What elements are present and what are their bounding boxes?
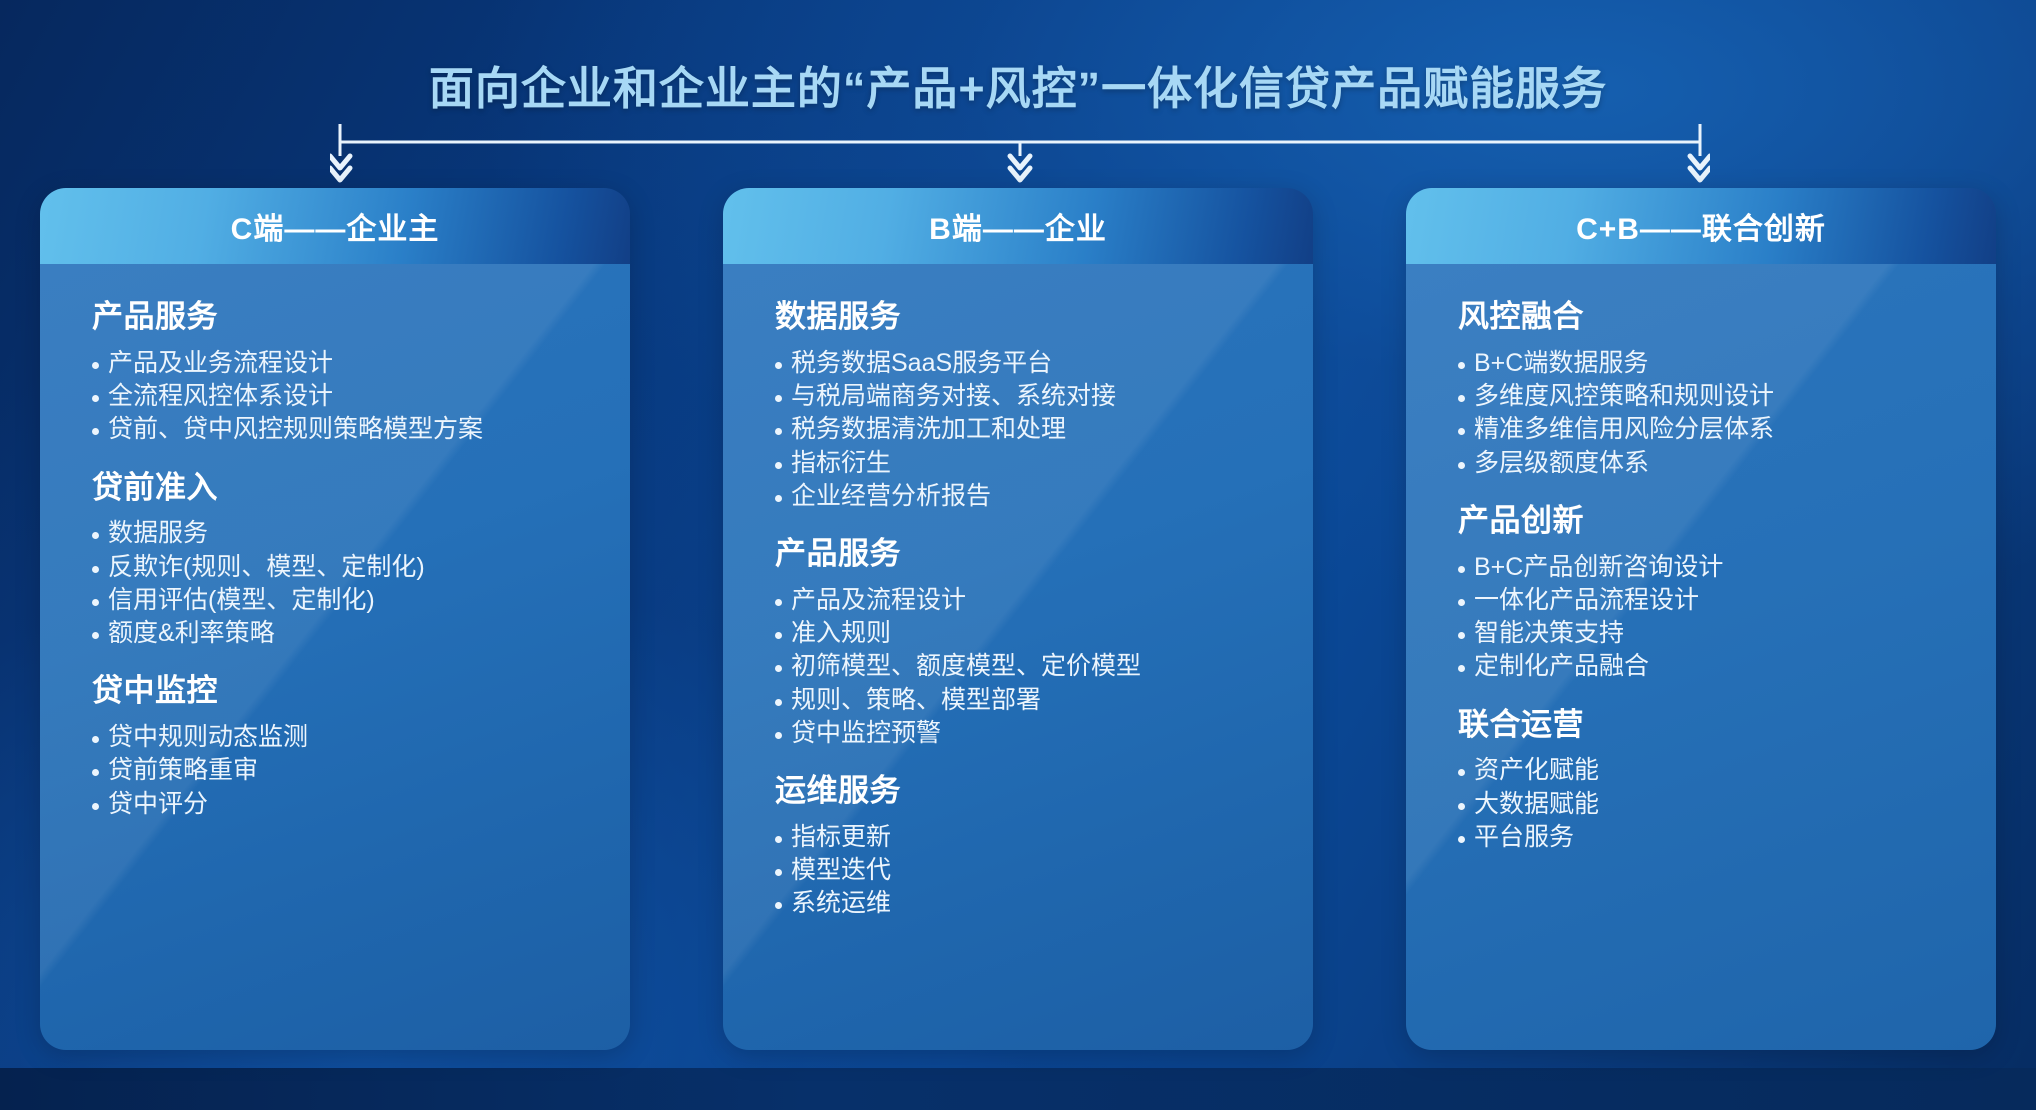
section-block: 产品服务 产品及业务流程设计 全流程风控体系设计 贷前、贷中风控规则策略模型方案 bbox=[92, 298, 590, 447]
slide-canvas: 面向企业和企业主的“产品+风控”一体化信贷产品赋能服务 bbox=[0, 0, 2036, 1110]
section-title: 数据服务 bbox=[775, 298, 1273, 337]
list-item: B+C端数据服务 bbox=[1458, 347, 1956, 380]
bullet-list: 产品及业务流程设计 全流程风控体系设计 贷前、贷中风控规则策略模型方案 bbox=[92, 347, 590, 447]
section-title: 贷中监控 bbox=[92, 672, 590, 711]
list-item: 全流程风控体系设计 bbox=[92, 380, 590, 413]
list-item: 反欺诈(规则、模型、定制化) bbox=[92, 551, 590, 584]
list-item: 系统运维 bbox=[775, 887, 1273, 920]
double-chevron-down-icon bbox=[1010, 156, 1030, 180]
list-item: 产品及流程设计 bbox=[775, 584, 1273, 617]
bullet-list: 贷中规则动态监测 贷前策略重审 贷中评分 bbox=[92, 721, 590, 821]
list-item: 贷中监控预警 bbox=[775, 717, 1273, 750]
bullet-list: 产品及流程设计 准入规则 初筛模型、额度模型、定价模型 规则、策略、模型部署 贷… bbox=[775, 584, 1273, 750]
section-block: 产品服务 产品及流程设计 准入规则 初筛模型、额度模型、定价模型 规则、策略、模… bbox=[775, 535, 1273, 750]
list-item: 一体化产品流程设计 bbox=[1458, 584, 1956, 617]
list-item: 数据服务 bbox=[92, 517, 590, 550]
list-item: 智能决策支持 bbox=[1458, 617, 1956, 650]
list-item: 贷中评分 bbox=[92, 788, 590, 821]
section-title: 产品服务 bbox=[775, 535, 1273, 574]
list-item: 贷前策略重审 bbox=[92, 754, 590, 787]
list-item: 规则、策略、模型部署 bbox=[775, 684, 1273, 717]
list-item: 与税局端商务对接、系统对接 bbox=[775, 380, 1273, 413]
double-chevron-down-icon bbox=[1690, 156, 1710, 180]
list-item: 贷中规则动态监测 bbox=[92, 721, 590, 754]
list-item: 多维度风控策略和规则设计 bbox=[1458, 380, 1956, 413]
bullet-list: 指标更新 模型迭代 系统运维 bbox=[775, 821, 1273, 921]
section-block: 运维服务 指标更新 模型迭代 系统运维 bbox=[775, 772, 1273, 921]
section-title: 产品创新 bbox=[1458, 502, 1956, 541]
card-body-b-end: 数据服务 税务数据SaaS服务平台 与税局端商务对接、系统对接 税务数据清洗加工… bbox=[723, 264, 1313, 1050]
list-item: 额度&利率策略 bbox=[92, 617, 590, 650]
bullet-list: B+C产品创新咨询设计 一体化产品流程设计 智能决策支持 定制化产品融合 bbox=[1458, 551, 1956, 684]
list-item: 初筛模型、额度模型、定价模型 bbox=[775, 650, 1273, 683]
list-item: 指标更新 bbox=[775, 821, 1273, 854]
section-title: 联合运营 bbox=[1458, 706, 1956, 745]
card-header-c-plus-b: C+B——联合创新 bbox=[1406, 188, 1996, 264]
bottom-decorative-band bbox=[0, 1068, 2036, 1110]
section-block: 贷前准入 数据服务 反欺诈(规则、模型、定制化) 信用评估(模型、定制化) 额度… bbox=[92, 469, 590, 651]
bullet-list: 税务数据SaaS服务平台 与税局端商务对接、系统对接 税务数据清洗加工和处理 指… bbox=[775, 347, 1273, 513]
bullet-list: 资产化赋能 大数据赋能 平台服务 bbox=[1458, 754, 1956, 854]
section-block: 贷中监控 贷中规则动态监测 贷前策略重审 贷中评分 bbox=[92, 672, 590, 821]
card-c-end: C端——企业主 产品服务 产品及业务流程设计 全流程风控体系设计 贷前、贷中风控… bbox=[40, 188, 630, 1050]
list-item: 指标衍生 bbox=[775, 447, 1273, 480]
card-header-c-end: C端——企业主 bbox=[40, 188, 630, 264]
list-item: 信用评估(模型、定制化) bbox=[92, 584, 590, 617]
section-title: 风控融合 bbox=[1458, 298, 1956, 337]
card-header-label: B端——企业 bbox=[929, 204, 1107, 248]
list-item: 企业经营分析报告 bbox=[775, 480, 1273, 513]
section-title: 产品服务 bbox=[92, 298, 590, 337]
card-body-c-plus-b: 风控融合 B+C端数据服务 多维度风控策略和规则设计 精准多维信用风险分层体系 … bbox=[1406, 264, 1996, 1050]
list-item: 准入规则 bbox=[775, 617, 1273, 650]
list-item: 模型迭代 bbox=[775, 854, 1273, 887]
section-block: 联合运营 资产化赋能 大数据赋能 平台服务 bbox=[1458, 706, 1956, 855]
list-item: 精准多维信用风险分层体系 bbox=[1458, 413, 1956, 446]
list-item: 税务数据清洗加工和处理 bbox=[775, 413, 1273, 446]
card-header-label: C端——企业主 bbox=[231, 204, 440, 248]
list-item: 贷前、贷中风控规则策略模型方案 bbox=[92, 413, 590, 446]
bullet-list: B+C端数据服务 多维度风控策略和规则设计 精准多维信用风险分层体系 多层级额度… bbox=[1458, 347, 1956, 480]
card-c-plus-b: C+B——联合创新 风控融合 B+C端数据服务 多维度风控策略和规则设计 精准多… bbox=[1406, 188, 1996, 1050]
connector-diagram bbox=[330, 120, 1710, 190]
card-header-label: C+B——联合创新 bbox=[1576, 204, 1826, 248]
section-title: 运维服务 bbox=[775, 772, 1273, 811]
card-header-b-end: B端——企业 bbox=[723, 188, 1313, 264]
list-item: 多层级额度体系 bbox=[1458, 447, 1956, 480]
list-item: B+C产品创新咨询设计 bbox=[1458, 551, 1956, 584]
section-block: 风控融合 B+C端数据服务 多维度风控策略和规则设计 精准多维信用风险分层体系 … bbox=[1458, 298, 1956, 480]
list-item: 资产化赋能 bbox=[1458, 754, 1956, 787]
double-chevron-down-icon bbox=[330, 156, 350, 180]
list-item: 税务数据SaaS服务平台 bbox=[775, 347, 1273, 380]
list-item: 定制化产品融合 bbox=[1458, 650, 1956, 683]
card-body-c-end: 产品服务 产品及业务流程设计 全流程风控体系设计 贷前、贷中风控规则策略模型方案… bbox=[40, 264, 630, 1050]
section-block: 数据服务 税务数据SaaS服务平台 与税局端商务对接、系统对接 税务数据清洗加工… bbox=[775, 298, 1273, 513]
list-item: 产品及业务流程设计 bbox=[92, 347, 590, 380]
section-block: 产品创新 B+C产品创新咨询设计 一体化产品流程设计 智能决策支持 定制化产品融… bbox=[1458, 502, 1956, 684]
page-title: 面向企业和企业主的“产品+风控”一体化信贷产品赋能服务 bbox=[0, 52, 2036, 117]
list-item: 平台服务 bbox=[1458, 821, 1956, 854]
columns-container: C端——企业主 产品服务 产品及业务流程设计 全流程风控体系设计 贷前、贷中风控… bbox=[40, 188, 1996, 1050]
list-item: 大数据赋能 bbox=[1458, 788, 1956, 821]
section-title: 贷前准入 bbox=[92, 469, 590, 508]
card-b-end: B端——企业 数据服务 税务数据SaaS服务平台 与税局端商务对接、系统对接 税… bbox=[723, 188, 1313, 1050]
bullet-list: 数据服务 反欺诈(规则、模型、定制化) 信用评估(模型、定制化) 额度&利率策略 bbox=[92, 517, 590, 650]
